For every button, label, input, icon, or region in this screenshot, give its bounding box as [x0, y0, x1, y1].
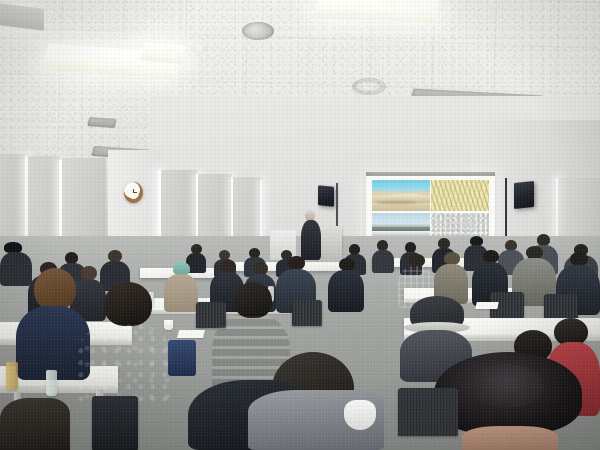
presenter — [300, 210, 322, 260]
paper-handout[interactable] — [475, 302, 498, 309]
paper-handout[interactable] — [177, 330, 205, 338]
attendee — [434, 252, 468, 302]
ceiling-light-panel-off — [87, 117, 117, 128]
ceiling-speaker-icon — [242, 22, 274, 40]
attendee — [328, 258, 364, 310]
chair[interactable] — [92, 396, 138, 450]
neck — [462, 426, 558, 450]
brown-hair — [34, 268, 76, 310]
chair[interactable] — [292, 300, 322, 326]
slide-sand-ripples — [431, 180, 489, 211]
slide-image-grid — [372, 180, 489, 244]
attendee — [0, 398, 70, 450]
presenter-body — [301, 220, 321, 260]
lecture-hall-photo — [0, 0, 600, 450]
attendee — [372, 240, 394, 272]
wall-speaker-left — [318, 185, 334, 206]
face-mask — [344, 400, 376, 430]
clock-hand-hour — [133, 192, 137, 193]
chair[interactable] — [398, 388, 458, 436]
wall-clock — [124, 182, 143, 203]
wall-speaker-right — [514, 181, 534, 209]
dark-hair — [104, 282, 152, 326]
water-bottle[interactable] — [46, 370, 57, 396]
slide-sand-dune — [372, 180, 430, 211]
water-bottle[interactable] — [6, 362, 18, 390]
ceiling-vent-inner — [354, 80, 382, 93]
attendee-gray-sweater — [76, 282, 172, 406]
smoke-detector-icon — [193, 44, 207, 53]
hair-bun — [470, 364, 544, 408]
attendee-gray-puffer — [188, 346, 384, 450]
ceiling-light-panel-lit — [140, 43, 186, 64]
